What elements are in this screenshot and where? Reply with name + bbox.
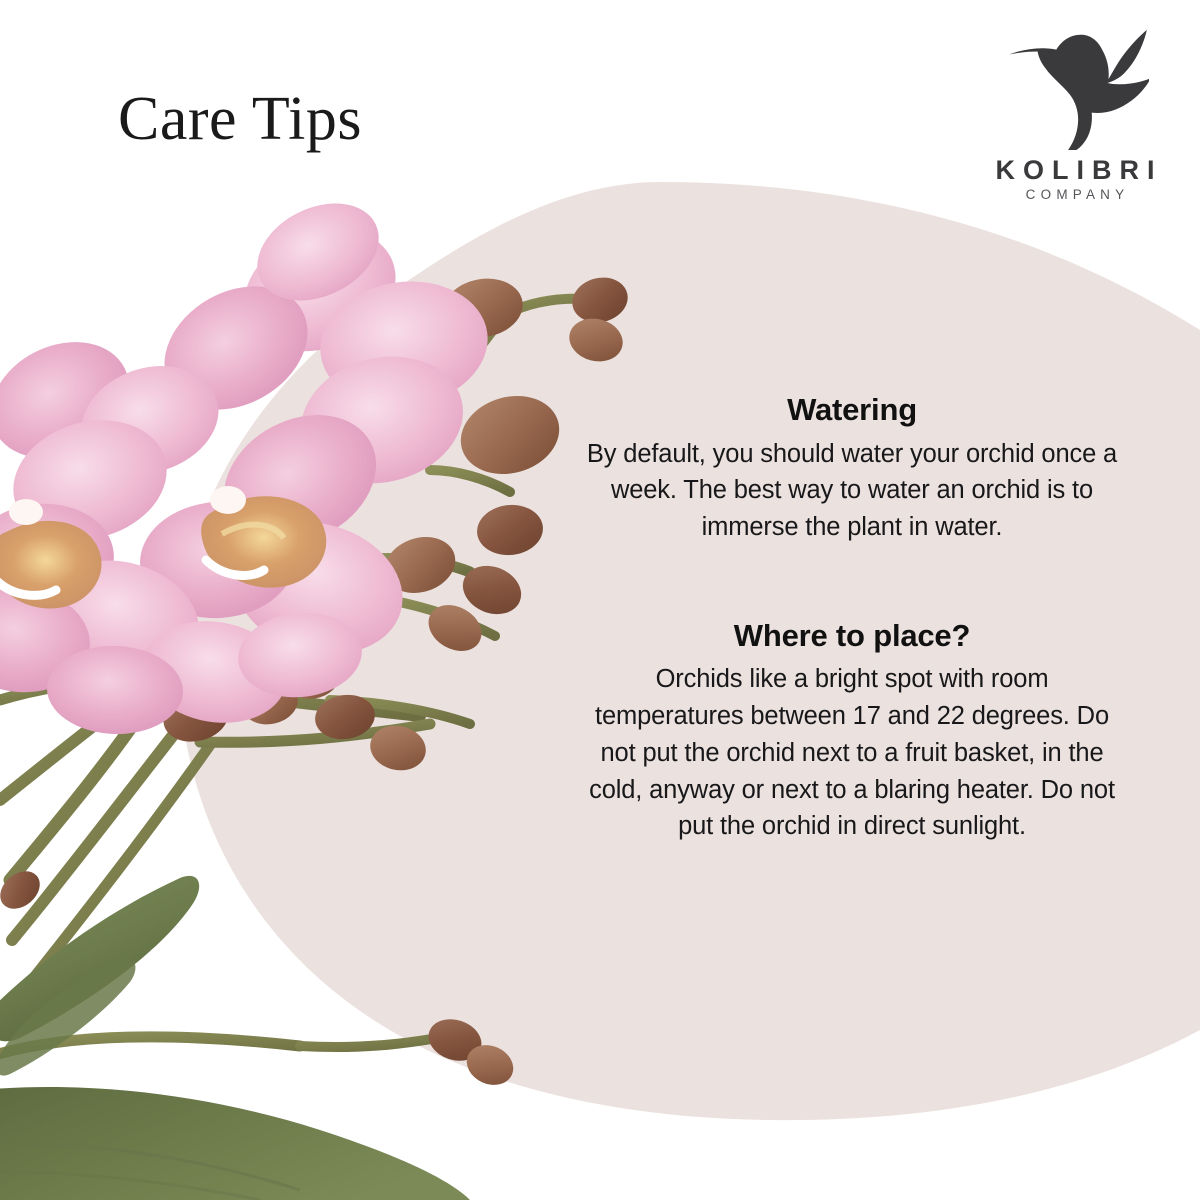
tip-section-watering: Watering By default, you should water yo… xyxy=(584,392,1120,546)
tip-section-placement: Where to place? Orchids like a bright sp… xyxy=(584,618,1120,845)
care-tips-card: Care Tips KOLIBRI COMPANY Watering By de… xyxy=(0,0,1200,1200)
logo-tagline: COMPANY xyxy=(975,188,1175,202)
care-tips-content: Watering By default, you should water yo… xyxy=(584,392,1120,845)
tip-body: Orchids like a bright spot with room tem… xyxy=(584,661,1120,845)
tip-heading: Where to place? xyxy=(584,618,1120,654)
brand-logo[interactable]: KOLIBRI COMPANY xyxy=(975,22,1175,202)
hummingbird-icon xyxy=(1001,22,1149,150)
tip-body: By default, you should water your orchid… xyxy=(584,436,1120,546)
page-title: Care Tips xyxy=(118,88,362,150)
logo-wordmark: KOLIBRI xyxy=(975,156,1175,184)
tip-heading: Watering xyxy=(584,392,1120,428)
